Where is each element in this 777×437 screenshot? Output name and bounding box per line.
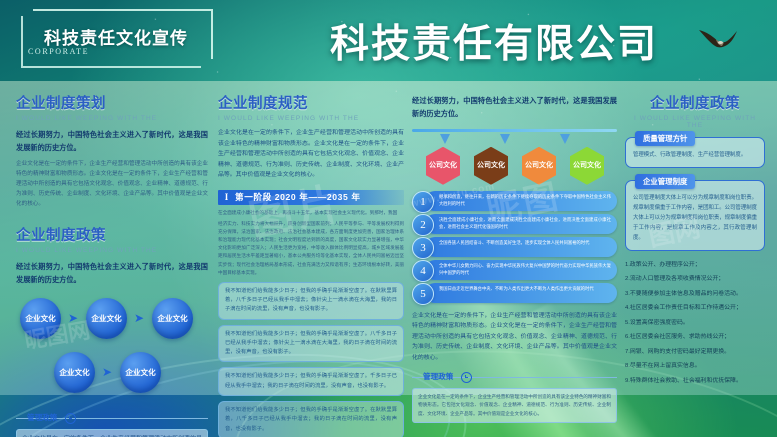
culture-circle-label: 企业文化 bbox=[25, 314, 55, 324]
numbered-text: 我国日益走近世界舞台中央、不断为人类作出更大不断为人类作出更大贡献的时代 bbox=[439, 286, 611, 293]
arrow-right-icon: ➤ bbox=[134, 312, 144, 324]
quote-box: 我不知道他们给我能多少日子；但我的手确乎是渐渐空虚了。千多日子已经从我手中溜去；… bbox=[218, 367, 404, 396]
mgmt-policy-box: 企业文化是在一定的条件下，企业生产经营和管理活动中所创造的具有该企业特色的精神财… bbox=[16, 429, 208, 437]
section-subtitle: I WOULD LIKE WEEPING WITH THE bbox=[16, 115, 208, 122]
poster-root: 科技责任文化宣传 CORPORATE 科技责任有限公司 企业制度策划 I WOU… bbox=[0, 0, 777, 437]
numbered-badge: 1 bbox=[412, 191, 434, 213]
numbered-text: 全体中华儿女戮力同心、奋力实现中华民族伟大复兴中国梦的时代奋力实现中华民族伟大复… bbox=[439, 263, 611, 277]
section-header-policy-right: 企业制度政策 I WOULD LIKE WEEPING WITH THE bbox=[625, 92, 765, 129]
list-item: 8.尽量不在网上留真实信息。 bbox=[625, 362, 765, 371]
stage-banner-text: 第一阶段 2020 年——2035 年 bbox=[235, 191, 361, 203]
company-culture-hex[interactable]: 公司文化 bbox=[522, 147, 556, 185]
mgmt-policy-text: 企业文化是在一定的条件下，企业生产经营和管理活动中所创造的具有该企业特色的精神财… bbox=[418, 393, 611, 418]
culture-circle[interactable]: 企业文化 bbox=[20, 298, 61, 339]
quote-box: 我不知道他们给我能多少日子；但我的手确乎是渐渐空虚了。在默默里算着，八千多日子已… bbox=[218, 282, 404, 320]
numbered-text: 全国各族人民团结奋斗、不断创造美好生活，逐步实现全体人民共同富裕的时代 bbox=[439, 240, 611, 247]
list-item: 6.社区居委会社区服务、求助热线公开； bbox=[625, 333, 765, 342]
hex-label: 公司文化 bbox=[429, 161, 457, 170]
numbered-row[interactable]: 全体中华儿女戮力同心、奋力实现中华民族伟大复兴中国梦的时代奋力实现中华民族伟大复… bbox=[412, 260, 617, 280]
content-panel: 企业制度策划 I WOULD LIKE WEEPING WITH THE 经过长… bbox=[0, 81, 777, 395]
list-item: 2.流动人口管理及各项收费情况公开； bbox=[625, 275, 765, 284]
numbered-pill: 全国各族人民团结奋斗、不断创造美好生活，逐步实现全体人民共同富裕的时代 bbox=[425, 237, 617, 257]
company-culture-hex[interactable]: 公司文化 bbox=[570, 147, 604, 185]
stage-note: 在全面建成小康社会的基础上，再奋斗十五年，基本实现社会主义现代化。到那时，我国 bbox=[218, 209, 404, 217]
header-badge-cn: 科技责任文化宣传 bbox=[44, 24, 188, 49]
quote-text: 我不知道他们给我能多少日子；但我的手确乎是渐渐空虚了。千多日子已经从我手中溜去；… bbox=[225, 372, 397, 391]
stage-banner-number: I bbox=[218, 192, 235, 202]
column-three: 经过长期努力，中国特色社会主义进入了新时代，这是我国发展新的历史方位。 公司文化… bbox=[412, 81, 617, 423]
quality-policy-tag: 质量管理方针 bbox=[635, 131, 695, 146]
culture-circle[interactable]: 企业文化 bbox=[86, 298, 127, 339]
planning-body-text: 企业文化是在一定的条件下，企业生产经营和管理活动中所创造的具有该企业特色的精神财… bbox=[16, 160, 208, 210]
quote-box: 我不知道他们给我能多少日子；但我的手确乎是渐渐空虚了。八千多日子已经从我手中溜去… bbox=[218, 325, 404, 363]
hex-row: 公司文化 公司文化 公司文化 公司文化 bbox=[412, 147, 617, 185]
mgmt-policy-box: 企业文化是在一定的条件下，企业生产经营和管理活动中所创造的具有该企业特色的精神财… bbox=[412, 388, 617, 423]
numbered-text: 继承和创造，继往开来，在新的历史条件下继续夺取的历史条件下夺取中国特色社会主义伟… bbox=[439, 194, 611, 208]
list-item: 5.设置高保密强度密码。 bbox=[625, 319, 765, 328]
stage-banner: I 第一阶段 2020 年——2035 年 bbox=[218, 190, 404, 205]
culture-circle-flow: 企业文化 ➤ 企业文化 ➤ 企业文化 企业文化 ➤ 企业文化 bbox=[16, 298, 208, 404]
arrow-right-icon: ➤ bbox=[102, 366, 112, 378]
section-subtitle: I WOULD LIKE WEEPING WITH THE bbox=[16, 247, 208, 254]
mgmt-system-text: 公司管理制度大体上可以分为规章制度和岗位职责。规章制度偏重于工作内容，是团和工。… bbox=[633, 193, 757, 243]
numbered-pill: 全体中华儿女戮力同心、奋力实现中华民族伟大复兴中国梦的时代奋力实现中华民族伟大复… bbox=[425, 260, 617, 280]
planning-lead-text: 经过长期努力，中国特色社会主义进入了新时代，这是我国发展新的历史方位。 bbox=[16, 129, 208, 154]
culture-circle-label: 企业文化 bbox=[125, 368, 155, 378]
column-four: 企业制度政策 I WOULD LIKE WEEPING WITH THE 质量管… bbox=[625, 81, 765, 391]
numbered-badge: 5 bbox=[412, 283, 434, 305]
numbered-pill: 决胜全面建成小康社会，进而全面建成决胜全面建成小康社会，进而决胜全面建成小康社会… bbox=[425, 214, 617, 234]
header-badge-en: CORPORATE bbox=[28, 47, 89, 56]
numbered-row[interactable]: 我国日益走近世界舞台中央、不断为人类作出更大不断为人类作出更大贡献的时代 5 bbox=[412, 283, 617, 303]
list-item: 7.网银、网购的支付密码最好定期更换。 bbox=[625, 348, 765, 357]
company-culture-hex[interactable]: 公司文化 bbox=[426, 147, 460, 185]
numbered-badge: 4 bbox=[412, 260, 434, 282]
section-title: 企业制度策划 bbox=[16, 92, 208, 113]
column-two: 企业制度规范 I WOULD LIKE WEEPING WITH THE 企业文… bbox=[218, 81, 404, 437]
stage-paragraph: 经济实力、科技实力将大幅跃升，跻身创新型国家前列；人民平等参与、平等发展权利得到… bbox=[218, 220, 404, 277]
disclosure-list: 1.政策公开、办理程序公开； 2.流动人口管理及各项收费情况公开； 3.不要随便… bbox=[625, 261, 765, 386]
clock-icon bbox=[65, 413, 76, 424]
quote-text: 我不知道他们给我能多少日子；但我的手确乎是渐渐空虚了。在默默里算着，八千多日子已… bbox=[225, 287, 397, 315]
mgmt-policy-divider: 管理政策 bbox=[412, 371, 617, 385]
policy-lead-text: 经过长期努力，中国特色社会主义进入了新时代，这是我国发展新的历史方位。 bbox=[16, 261, 208, 286]
column-one: 企业制度策划 I WOULD LIKE WEEPING WITH THE 经过长… bbox=[16, 81, 208, 437]
section-header-planning: 企业制度策划 I WOULD LIKE WEEPING WITH THE bbox=[16, 92, 208, 122]
standards-body-text: 企业文化是在一定的条件下，企业生产经营和管理活动中所创造的具有该企业特色的精神财… bbox=[218, 128, 404, 181]
section-header-standards: 企业制度规范 I WOULD LIKE WEEPING WITH THE bbox=[218, 92, 404, 122]
numbered-row[interactable]: 决胜全面建成小康社会，进而全面建成决胜全面建成小康社会，进而决胜全面建成小康社会… bbox=[412, 214, 617, 234]
numbered-pill: 我国日益走近世界舞台中央、不断为人类作出更大不断为人类作出更大贡献的时代 bbox=[425, 283, 617, 303]
col3-lead-text: 经过长期努力，中国特色社会主义进入了新时代，这是我国发展新的历史方位。 bbox=[412, 95, 617, 120]
quote-text: 我不知道他们给我能多少日子；但我的手确乎是渐渐空虚了。八千多日子已经从我手中溜去… bbox=[225, 330, 397, 358]
arrow-right-icon: ➤ bbox=[68, 312, 78, 324]
culture-circle-label: 企业文化 bbox=[157, 314, 187, 324]
culture-circle[interactable]: 企业文化 bbox=[152, 298, 193, 339]
list-item: 4.社区居委会工作责任目标和工作待遇公开； bbox=[625, 304, 765, 313]
numbered-badge: 3 bbox=[412, 237, 434, 259]
section-subtitle: I WOULD LIKE WEEPING WITH THE bbox=[625, 115, 765, 129]
clock-icon bbox=[461, 372, 472, 383]
culture-circle[interactable]: 企业文化 bbox=[54, 352, 95, 393]
quality-policy-box: 质量管理方针 管理模式、行政管理制度、生产经营管理制度。 bbox=[625, 137, 765, 168]
mgmt-system-tag: 企业管理制度 bbox=[635, 174, 695, 189]
mgmt-policy-tag: 管理政策 bbox=[418, 371, 458, 382]
section-subtitle: I WOULD LIKE WEEPING WITH THE bbox=[218, 115, 404, 122]
numbered-list: 继承和创造，继往开来，在新的历史条件下继续夺取的历史条件下夺取中国特色社会主义伟… bbox=[412, 191, 617, 303]
numbered-pill: 继承和创造，继往开来，在新的历史条件下继续夺取的历史条件下夺取中国特色社会主义伟… bbox=[425, 191, 617, 211]
numbered-text: 决胜全面建成小康社会，进而全面建成决胜全面建成小康社会，进而决胜全面建成小康社会… bbox=[439, 217, 611, 231]
mgmt-policy-divider: 管理政策 bbox=[16, 412, 208, 426]
section-header-policy: 企业制度政策 I WOULD LIKE WEEPING WITH THE bbox=[16, 224, 208, 254]
eagle-icon bbox=[697, 27, 739, 53]
hex-label: 公司文化 bbox=[477, 161, 505, 170]
list-item: 9.特殊群体社会救助、社会福利和优抚保障。 bbox=[625, 377, 765, 386]
hex-arrow-row bbox=[412, 132, 617, 147]
numbered-row[interactable]: 全国各族人民团结奋斗、不断创造美好生活，逐步实现全体人民共同富裕的时代 3 bbox=[412, 237, 617, 257]
culture-circle-label: 企业文化 bbox=[59, 368, 89, 378]
section-title: 企业制度政策 bbox=[16, 224, 208, 245]
quality-policy-text: 管理模式、行政管理制度、生产经营管理制度。 bbox=[633, 150, 757, 160]
list-item: 3.不要随便参加主体信息及赠品的问卷活动。 bbox=[625, 290, 765, 299]
culture-circle-label: 企业文化 bbox=[91, 314, 121, 324]
culture-circle[interactable]: 企业文化 bbox=[120, 352, 161, 393]
quote-text: 我不知道他们给我能多少日子；但我的手确乎是渐渐空虚了。在默默里算着，八千多日子已… bbox=[225, 406, 397, 434]
numbered-badge: 2 bbox=[412, 214, 434, 236]
mgmt-policy-tag: 管理政策 bbox=[22, 412, 62, 423]
poster-header: 科技责任文化宣传 CORPORATE 科技责任有限公司 bbox=[0, 0, 777, 81]
quote-box: 我不知道他们给我能多少日子；但我的手确乎是渐渐空虚了。在默默里算着，八千多日子已… bbox=[218, 401, 404, 437]
page-title: 科技责任有限公司 bbox=[330, 13, 658, 69]
hex-label: 公司文化 bbox=[573, 161, 601, 170]
mgmt-system-box: 企业管理制度 公司管理制度大体上可以分为规章制度和岗位职责。规章制度偏重于工作内… bbox=[625, 180, 765, 251]
company-culture-hex[interactable]: 公司文化 bbox=[474, 147, 508, 185]
numbered-row[interactable]: 继承和创造，继往开来，在新的历史条件下继续夺取的历史条件下夺取中国特色社会主义伟… bbox=[412, 191, 617, 211]
arrow-down-icon bbox=[560, 134, 570, 144]
list-item: 1.政策公开、办理程序公开； bbox=[625, 261, 765, 270]
col3-paragraph: 企业文化是在一定的条件下，企业生产经营和管理活动中所创造的具有该企业特色的精神财… bbox=[412, 311, 617, 364]
section-title: 企业制度政策 bbox=[625, 92, 765, 113]
hex-label: 公司文化 bbox=[525, 161, 553, 170]
arrow-down-icon bbox=[500, 134, 510, 144]
section-title: 企业制度规范 bbox=[218, 92, 404, 113]
arrow-down-icon bbox=[440, 134, 450, 144]
